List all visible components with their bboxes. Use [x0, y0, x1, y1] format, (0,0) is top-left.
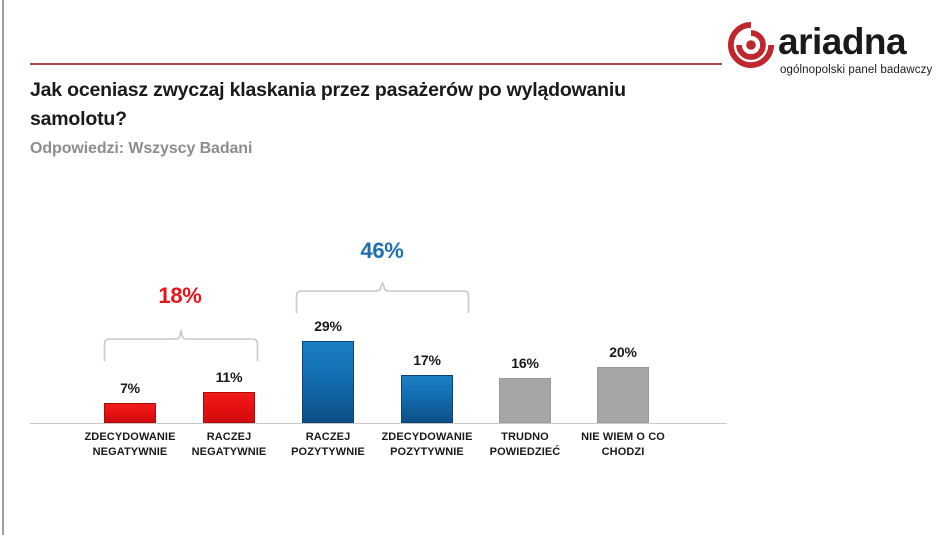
- bar-value-nie-wiem-o-co-chodzi: 20%: [583, 344, 663, 360]
- bar-raczej-negatywnie[interactable]: [203, 392, 255, 423]
- slide-canvas: ariadna ogólnopolski panel badawczy Jak …: [0, 0, 951, 535]
- group-brace-negative: [103, 330, 259, 362]
- bar-raczej-pozytywnie[interactable]: [302, 341, 354, 423]
- group-total-negative: 18%: [110, 283, 250, 309]
- bar-value-raczej-negatywnie: 11%: [189, 369, 269, 385]
- bar-zdecydowanie-negatywnie[interactable]: [104, 403, 156, 423]
- bar-trudno-powiedziec[interactable]: [499, 378, 551, 423]
- category-label-line2: CHODZI: [565, 445, 681, 460]
- bar-value-trudno-powiedziec: 16%: [485, 355, 565, 371]
- bar-value-zdecydowanie-negatywnie: 7%: [90, 380, 170, 396]
- group-total-positive: 46%: [312, 238, 452, 264]
- bar-chart: 18% 46% 7% ZDECYDOWANIE NEGATYWNIE 11% R…: [0, 0, 951, 535]
- bar-value-zdecydowanie-pozytywnie: 17%: [387, 352, 467, 368]
- group-brace-positive: [295, 282, 470, 314]
- category-label-line1: NIE WIEM O CO: [565, 430, 681, 445]
- x-axis-line: [30, 423, 727, 424]
- bar-nie-wiem-o-co-chodzi[interactable]: [597, 367, 649, 423]
- bar-zdecydowanie-pozytywnie[interactable]: [401, 375, 453, 423]
- bar-value-raczej-pozytywnie: 29%: [288, 318, 368, 334]
- category-label-nie-wiem-o-co-chodzi: NIE WIEM O CO CHODZI: [565, 430, 681, 460]
